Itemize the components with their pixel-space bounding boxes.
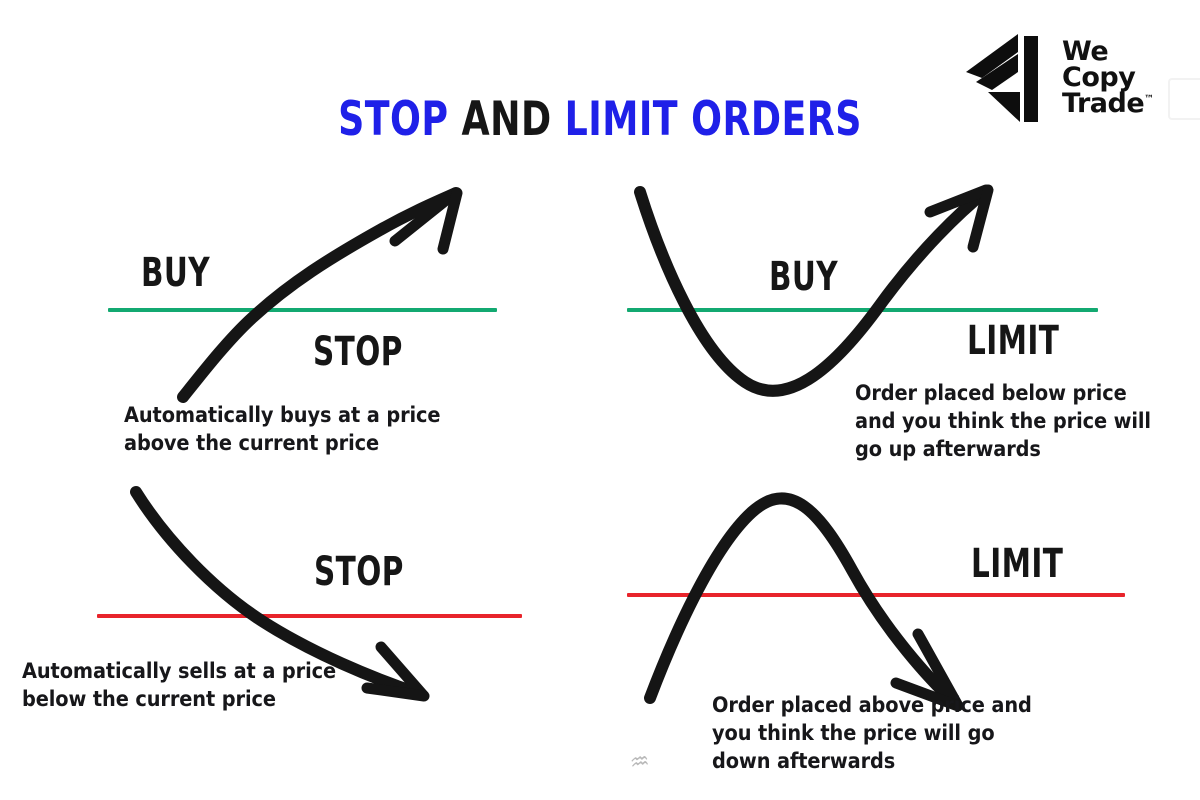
- brand-logo[interactable]: We Copy Trade™: [958, 26, 1178, 130]
- sell-limit-order-label: LIMIT: [971, 544, 1063, 584]
- infographic-canvas: STOP AND LIMIT ORDERS We Copy Trade™: [0, 0, 1200, 800]
- sell-limit-caption: Order placed above price and you think t…: [712, 692, 1082, 776]
- watermark-glyph: ♒: [629, 751, 652, 776]
- logo-line-3: Trade™: [1062, 91, 1154, 117]
- sell-limit-arrow-icon: [650, 498, 958, 706]
- buy-limit-order-label: LIMIT: [967, 321, 1059, 361]
- buy-stop-side-label: BUY: [141, 253, 210, 293]
- sell-stop-order-label: STOP: [314, 552, 404, 592]
- arrow-chevron-mark-icon: [958, 30, 1050, 126]
- title-word-stop: STOP: [338, 92, 448, 147]
- trademark-symbol: ™: [1144, 94, 1154, 105]
- buy-stop-caption: Automatically buys at a price above the …: [124, 402, 544, 458]
- logo-line-3-text: Trade: [1062, 88, 1144, 119]
- sell-limit-price-line: [627, 593, 1125, 597]
- buy-limit-side-label: BUY: [769, 257, 838, 297]
- title-word-and: AND: [462, 92, 552, 147]
- buy-limit-price-line: [627, 308, 1098, 312]
- brand-wordmark: We Copy Trade™: [1062, 39, 1154, 117]
- sell-stop-price-line: [97, 614, 522, 618]
- sell-stop-caption: Automatically sells at a price below the…: [22, 658, 452, 714]
- title-word-limit-orders: LIMIT ORDERS: [565, 92, 862, 147]
- decorative-frame: [1168, 78, 1200, 120]
- buy-stop-order-label: STOP: [313, 332, 403, 372]
- buy-limit-caption: Order placed below price and you think t…: [855, 380, 1185, 464]
- buy-stop-price-line: [108, 308, 497, 312]
